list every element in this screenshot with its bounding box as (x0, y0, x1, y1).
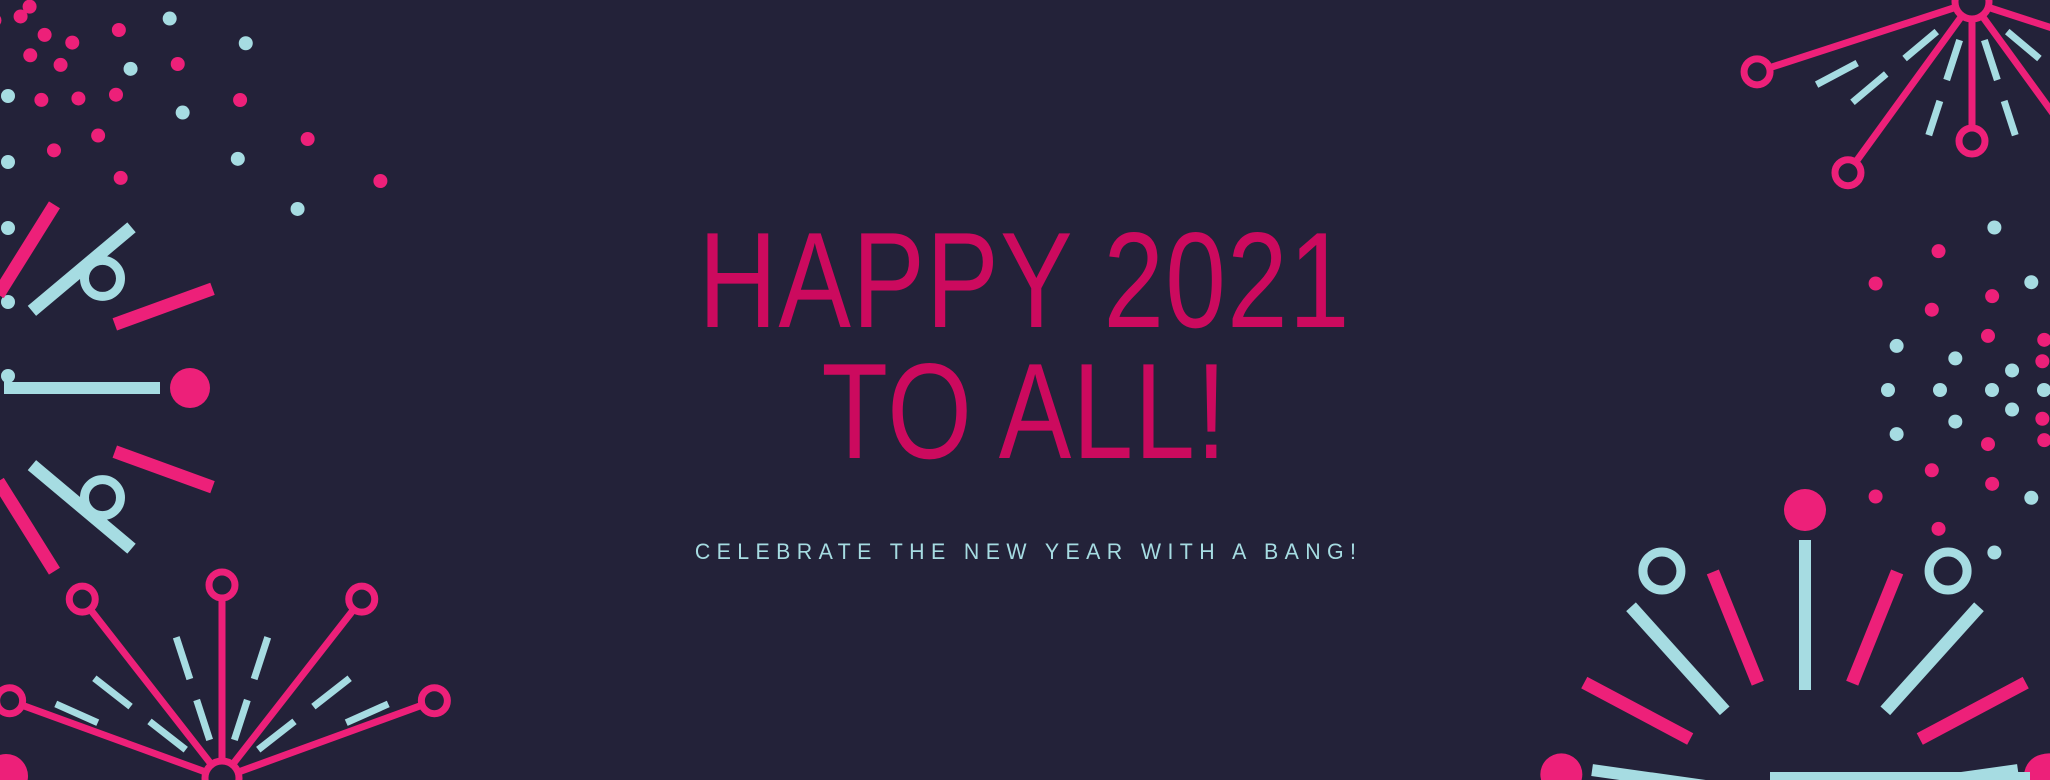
headline-line-2: TO ALL! (699, 346, 1351, 477)
page-title: HAPPY 2021 TO ALL! (699, 215, 1351, 476)
headline-line-1: HAPPY 2021 (699, 215, 1351, 346)
banner-subtitle: CELEBRATE THE NEW YEAR WITH A BANG! (688, 477, 1362, 565)
banner-content: HAPPY 2021 TO ALL! CELEBRATE THE NEW YEA… (0, 0, 2050, 780)
new-year-banner: HAPPY 2021 TO ALL! CELEBRATE THE NEW YEA… (0, 0, 2050, 780)
